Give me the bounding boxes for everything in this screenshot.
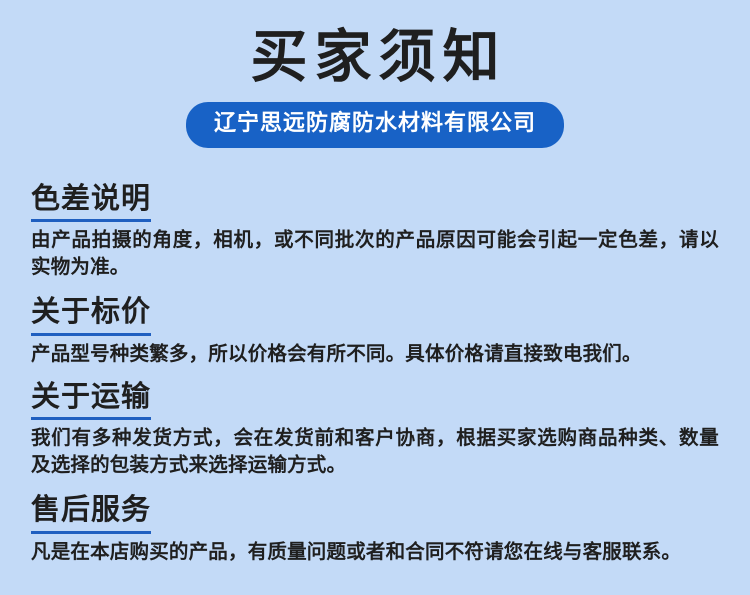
section-body: 凡是在本店购买的产品，有质量问题或者和合同不符请您在线与客服联系。: [31, 539, 719, 566]
section-heading: 色差说明: [31, 182, 151, 223]
section-heading: 售后服务: [31, 493, 151, 534]
buyer-notice-page: 买家须知 辽宁思远防腐防水材料有限公司 色差说明 由产品拍摄的角度，相机，或不同…: [0, 0, 750, 595]
section-after-sales: 售后服务 凡是在本店购买的产品，有质量问题或者和合同不符请您在线与客服联系。: [31, 493, 719, 566]
section-color-difference: 色差说明 由产品拍摄的角度，相机，或不同批次的产品原因可能会引起一定色差，请以实…: [31, 182, 719, 281]
section-heading: 关于标价: [31, 295, 151, 336]
section-body: 由产品拍摄的角度，相机，或不同批次的产品原因可能会引起一定色差，请以实物为准。: [31, 227, 719, 281]
section-heading: 关于运输: [31, 380, 151, 421]
page-header: 买家须知 辽宁思远防腐防水材料有限公司: [0, 0, 750, 148]
page-title: 买家须知: [0, 26, 750, 90]
company-name-badge: 辽宁思远防腐防水材料有限公司: [186, 102, 564, 148]
company-pill-wrap: 辽宁思远防腐防水材料有限公司: [0, 102, 750, 148]
section-pricing: 关于标价 产品型号种类繁多，所以价格会有所不同。具体价格请直接致电我们。: [31, 295, 719, 368]
notice-sections: 色差说明 由产品拍摄的角度，相机，或不同批次的产品原因可能会引起一定色差，请以实…: [0, 182, 750, 566]
section-body: 产品型号种类繁多，所以价格会有所不同。具体价格请直接致电我们。: [31, 341, 719, 368]
section-body: 我们有多种发货方式，会在发货前和客户协商，根据买家选购商品种类、数量及选择的包装…: [31, 425, 719, 479]
section-shipping: 关于运输 我们有多种发货方式，会在发货前和客户协商，根据买家选购商品种类、数量及…: [31, 380, 719, 479]
